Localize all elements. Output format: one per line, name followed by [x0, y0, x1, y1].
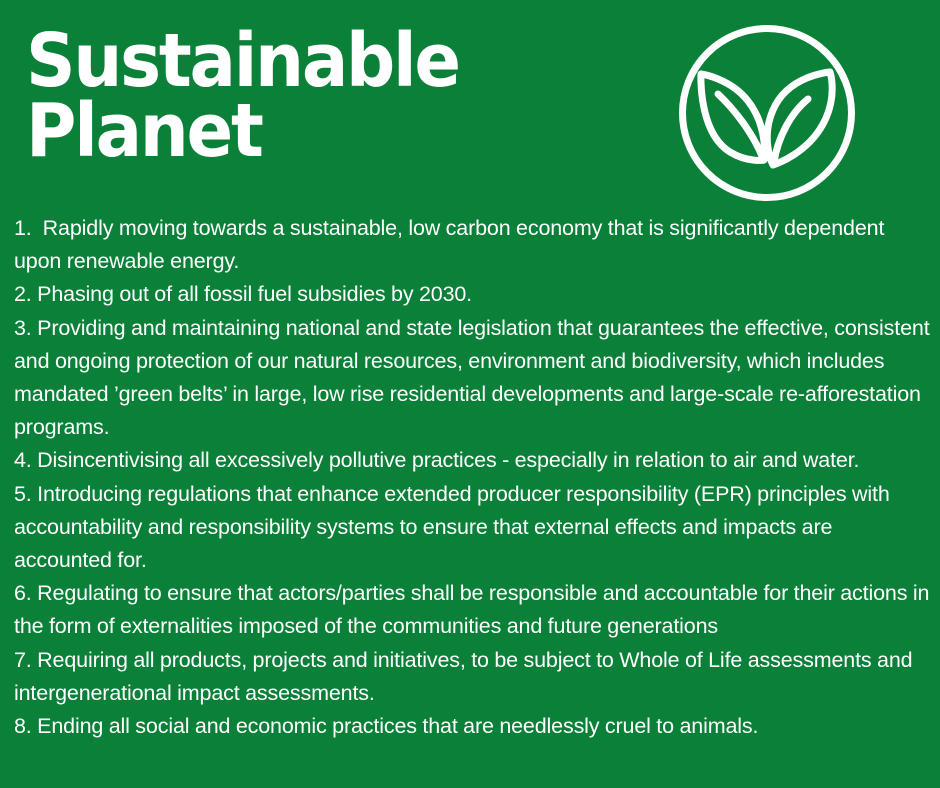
title-line-1: Sustainable	[26, 26, 603, 96]
list-item: 5. Introducing regulations that enhance …	[14, 478, 932, 578]
list-item: 1. Rapidly moving towards a sustainable,…	[14, 212, 932, 278]
two-leaves-in-circle-icon	[678, 24, 856, 202]
list-item: 3. Providing and maintaining national an…	[14, 312, 932, 445]
list-item: 6. Regulating to ensure that actors/part…	[14, 577, 932, 643]
poster-root: Sustainable Planet 1. Rapidly moving tow…	[0, 0, 940, 788]
policy-list: 1. Rapidly moving towards a sustainable,…	[14, 212, 932, 743]
title-line-2: Planet	[26, 96, 603, 166]
list-item: 4. Disincentivising all excessively poll…	[14, 444, 932, 477]
page-title: Sustainable Planet	[26, 26, 646, 166]
list-item: 7. Requiring all products, projects and …	[14, 644, 932, 710]
list-item: 2. Phasing out of all fossil fuel subsid…	[14, 278, 932, 311]
poster-header: Sustainable Planet	[0, 0, 940, 205]
list-item: 8. Ending all social and economic practi…	[14, 710, 932, 743]
